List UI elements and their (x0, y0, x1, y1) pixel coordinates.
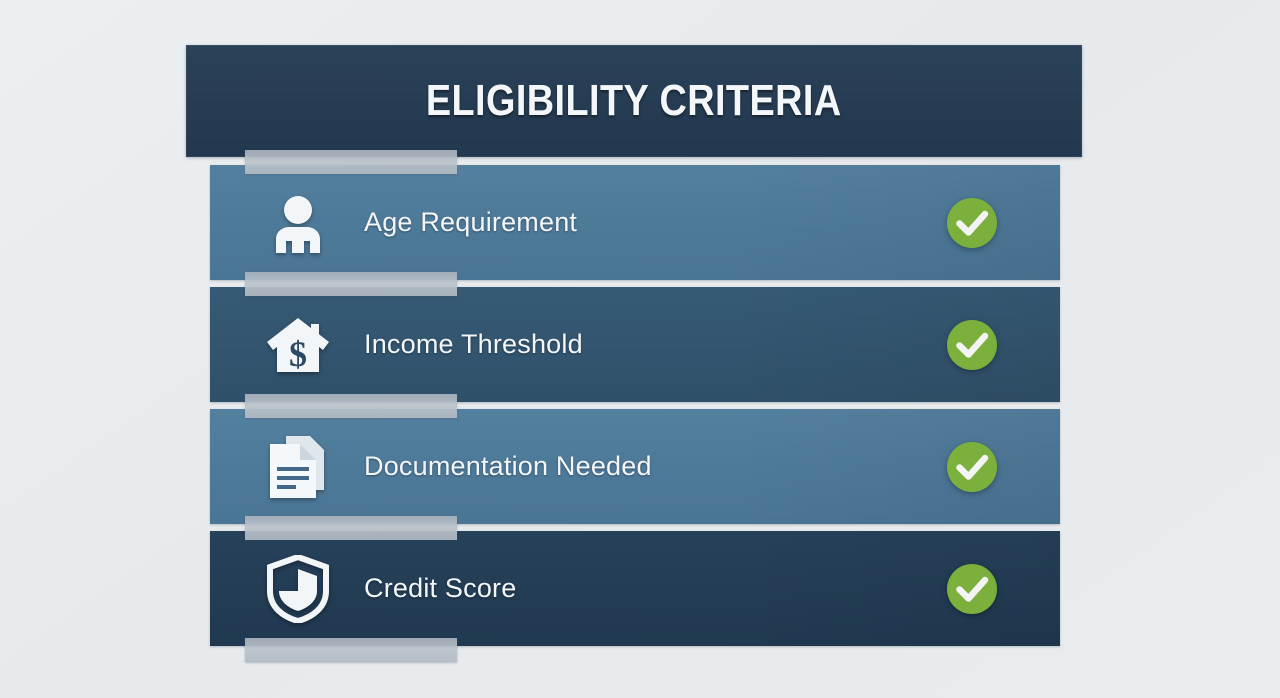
document-icon (250, 434, 346, 500)
criteria-label: Income Threshold (364, 329, 583, 360)
criteria-row-credit-score[interactable]: Credit Score (210, 531, 1060, 646)
header-banner: ELIGIBILITY CRITERIA (186, 45, 1082, 157)
criteria-row-income-threshold[interactable]: $ Income Threshold (210, 287, 1060, 402)
person-icon (250, 191, 346, 255)
shield-icon (250, 555, 346, 623)
check-icon[interactable] (946, 197, 998, 249)
eligibility-criteria-infographic: ELIGIBILITY CRITERIA Age Requirement (186, 45, 1082, 655)
check-icon[interactable] (946, 563, 998, 615)
house-dollar-icon: $ (250, 312, 346, 378)
criteria-row-age-requirement[interactable]: Age Requirement (210, 165, 1060, 280)
page-title: ELIGIBILITY CRITERIA (426, 76, 842, 126)
criteria-label: Documentation Needed (364, 451, 652, 482)
criteria-label: Age Requirement (364, 207, 577, 238)
check-icon[interactable] (946, 319, 998, 371)
criteria-list: Age Requirement $ Income Threshold (210, 165, 1060, 653)
svg-text:$: $ (289, 334, 307, 374)
criteria-label: Credit Score (364, 573, 516, 604)
criteria-row-documentation-needed[interactable]: Documentation Needed (210, 409, 1060, 524)
check-icon[interactable] (946, 441, 998, 493)
